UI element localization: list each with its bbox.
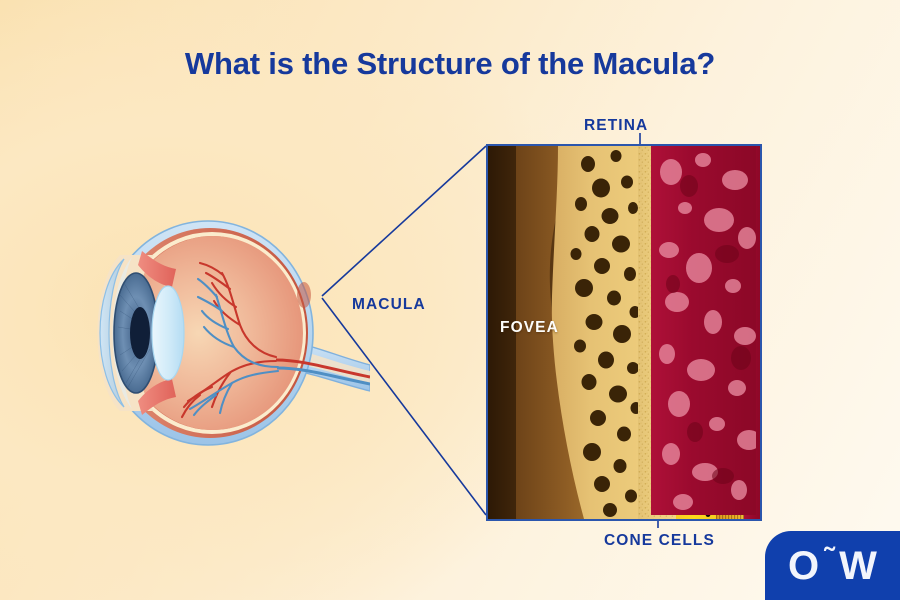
choroid-layer-detail <box>651 146 756 515</box>
label-retina: RETINA <box>584 117 648 135</box>
logo-letter-o: O <box>788 546 819 586</box>
leader-lines <box>0 0 900 600</box>
label-macula: MACULA <box>352 296 426 314</box>
brand-logo[interactable]: O ˜ W <box>765 531 900 600</box>
logo-tilde-icon: ˜ <box>824 544 834 574</box>
label-fovea: FOVEA <box>500 319 559 337</box>
logo-mark: O ˜ W <box>788 546 877 586</box>
infographic-canvas: What is the Structure of the Macula? <box>0 0 900 600</box>
label-cone-cells: CONE CELLS <box>604 532 715 550</box>
logo-letter-w: W <box>839 546 877 586</box>
leader-macula-to-inset-top <box>322 146 486 296</box>
leader-macula-to-inset-bottom <box>322 298 486 515</box>
